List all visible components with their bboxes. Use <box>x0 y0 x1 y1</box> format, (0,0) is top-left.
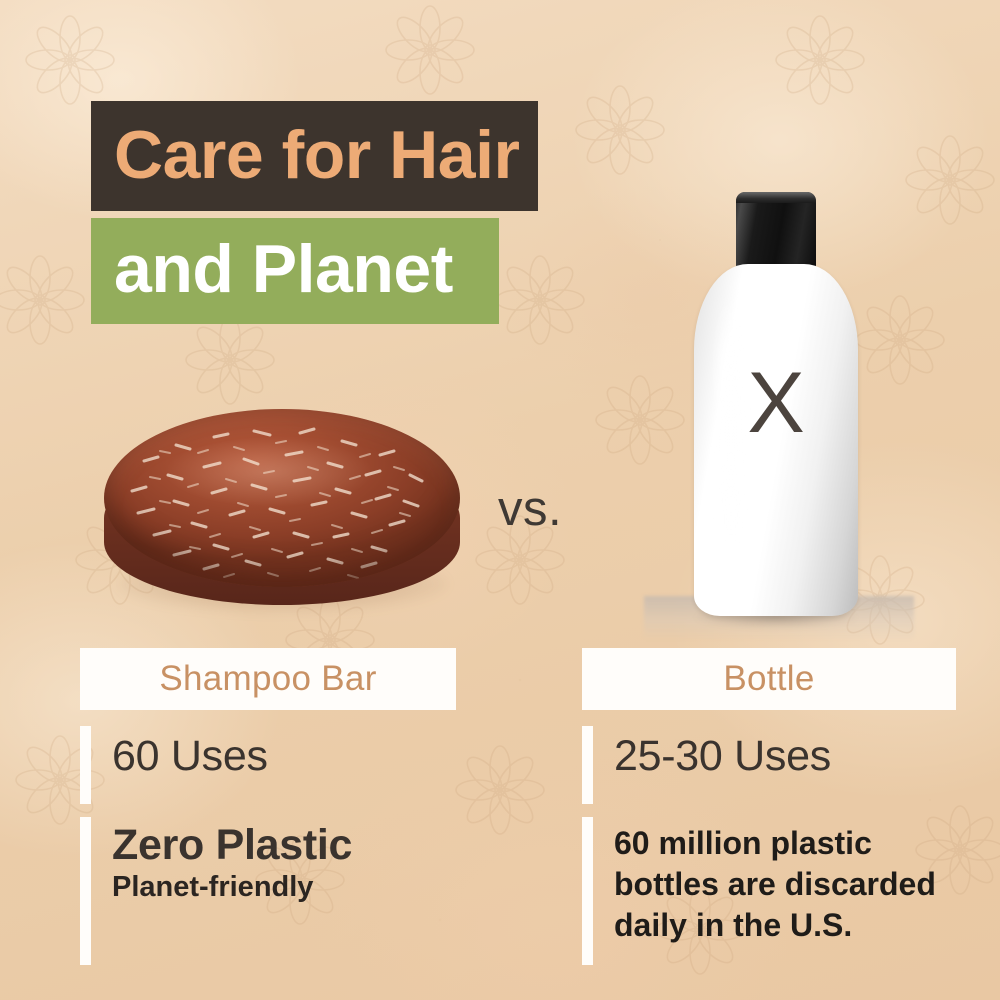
shampoo-bar-plastic-value: Zero Plastic <box>112 817 456 868</box>
bottle-cap <box>736 192 816 268</box>
shampoo-bar-fact-plastic: Zero Plastic Planet-friendly <box>80 817 456 965</box>
shampoo-bar-photo <box>96 395 468 630</box>
shampoo-bar-title: Shampoo Bar <box>80 648 456 710</box>
shampoo-bar-plastic-subtext: Planet-friendly <box>112 868 456 904</box>
bottle-waste-statement: 60 million plastic bottles are discarded… <box>614 817 956 946</box>
shampoo-bar-uses-value: 60 Uses <box>112 726 456 779</box>
infographic-canvas: Care for Hair and Planet <box>0 0 1000 1000</box>
shampoo-bar-fact-uses: 60 Uses <box>80 726 456 804</box>
bottle-fact-waste: 60 million plastic bottles are discarded… <box>582 817 956 965</box>
shampoo-bar-top <box>104 409 460 587</box>
bottle-fact-uses: 25-30 Uses <box>582 726 956 804</box>
bottle-cap-top <box>736 192 816 203</box>
versus-label: vs. <box>498 481 562 537</box>
bottle-title: Bottle <box>582 648 956 710</box>
comparison-column-bottle: Bottle 25-30 Uses 60 million plastic bot… <box>582 648 956 965</box>
bottle-uses-value: 25-30 Uses <box>614 726 956 779</box>
plastic-bottle-photo: X <box>688 192 864 637</box>
comparison-column-shampoo-bar: Shampoo Bar 60 Uses Zero Plastic Planet-… <box>80 648 456 965</box>
shampoo-bar-flakes <box>104 409 460 587</box>
bottle-x-mark-icon: X <box>688 360 864 446</box>
